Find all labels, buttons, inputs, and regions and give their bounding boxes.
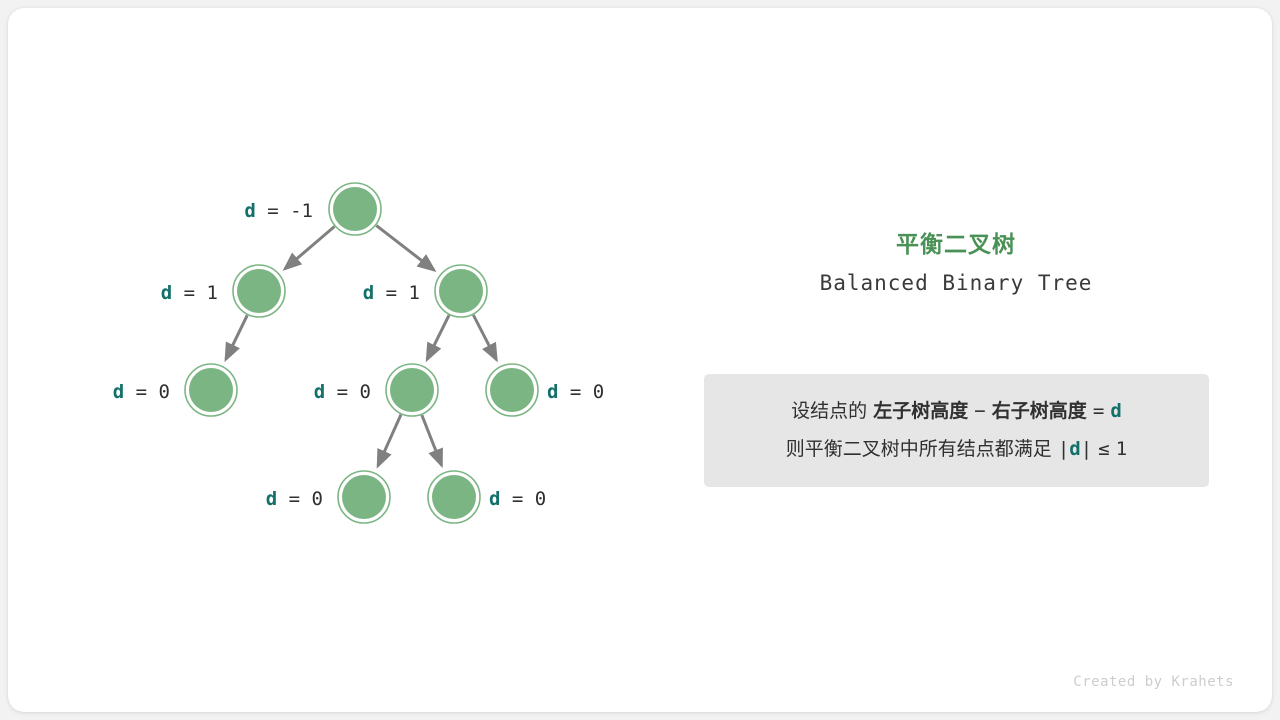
formula-equals-sign: = [1093,400,1104,422]
balance-variable-d: d [161,282,172,304]
tree-edge [285,227,335,269]
formula-prefix-1: 设结点的 [791,400,867,422]
node-balance-label: d = -1 [244,200,313,222]
tree-node [329,183,381,235]
formula-bound-value: 1 [1116,438,1127,460]
tree-node-circle [439,269,483,313]
diagram-card: d = -1d = 1d = 1d = 0d = 0d = 0d = 0d = … [8,8,1272,712]
formula-prefix-2: 则平衡二叉树中所有结点都满足 [786,438,1052,460]
node-balance-label: d = 0 [547,381,604,403]
balance-value: = 0 [277,488,323,510]
node-balance-label: d = 1 [161,282,218,304]
tree-node [486,364,538,416]
tree-node-circle [333,187,377,231]
node-balance-label: d = 0 [314,381,371,403]
credit-footer: Created by Krahets [1073,674,1234,690]
abs-bar-close: | [1081,438,1092,460]
node-balance-label: d = 0 [489,488,546,510]
node-balance-label: d = 0 [266,488,323,510]
tree-edge [422,415,442,465]
balance-value: = -1 [256,200,313,222]
balance-variable-d: d [363,282,374,304]
tree-node-circle [432,475,476,519]
balance-value: = 1 [374,282,420,304]
balance-variable-d: d [314,381,325,403]
formula-right-subtree-height: 右子树高度 [992,400,1087,422]
tree-edge [427,315,449,359]
formula-variable-d-2: d [1069,438,1080,460]
node-balance-label: d = 0 [113,381,170,403]
balance-value: = 1 [172,282,218,304]
balance-value: = 0 [500,488,546,510]
formula-line-1: 设结点的 左子树高度 − 右子树高度 = d [726,392,1187,430]
balance-variable-d: d [547,381,558,403]
tree-node [185,364,237,416]
tree-node-circle [490,368,534,412]
tree-node-circle [342,475,386,519]
balance-value: = 0 [558,381,604,403]
tree-node-circle [390,368,434,412]
balance-value: = 0 [325,381,371,403]
tree-nodes [185,183,538,523]
balance-variable-d: d [266,488,277,510]
formula-relation-sign: ≤ [1098,438,1109,460]
tree-edges [226,226,497,466]
formula-callout-box: 设结点的 左子树高度 − 右子树高度 = d 则平衡二叉树中所有结点都满足 |d… [704,374,1209,487]
formula-left-subtree-height: 左子树高度 [873,400,968,422]
tree-edge [473,315,496,360]
page-subtitle: Balanced Binary Tree [708,267,1204,299]
binary-tree-graphic [8,8,1272,712]
tree-edge [226,315,247,359]
title-block: 平衡二叉树 Balanced Binary Tree [708,230,1204,299]
page-title: 平衡二叉树 [708,230,1204,260]
balance-variable-d: d [244,200,255,222]
formula-line-2: 则平衡二叉树中所有结点都满足 |d| ≤ 1 [726,430,1187,468]
tree-node [435,265,487,317]
tree-node [386,364,438,416]
balance-variable-d: d [113,381,124,403]
tree-node-circle [189,368,233,412]
tree-node-circle [237,269,281,313]
balance-value: = 0 [124,381,170,403]
tree-edge [376,226,434,271]
tree-node [338,471,390,523]
balance-variable-d: d [489,488,500,510]
formula-variable-d-1: d [1110,400,1121,422]
node-balance-label: d = 1 [363,282,420,304]
tree-node [428,471,480,523]
abs-bar-open: | [1058,438,1069,460]
tree-edge [378,415,401,466]
formula-minus-sign: − [974,400,985,422]
tree-node [233,265,285,317]
